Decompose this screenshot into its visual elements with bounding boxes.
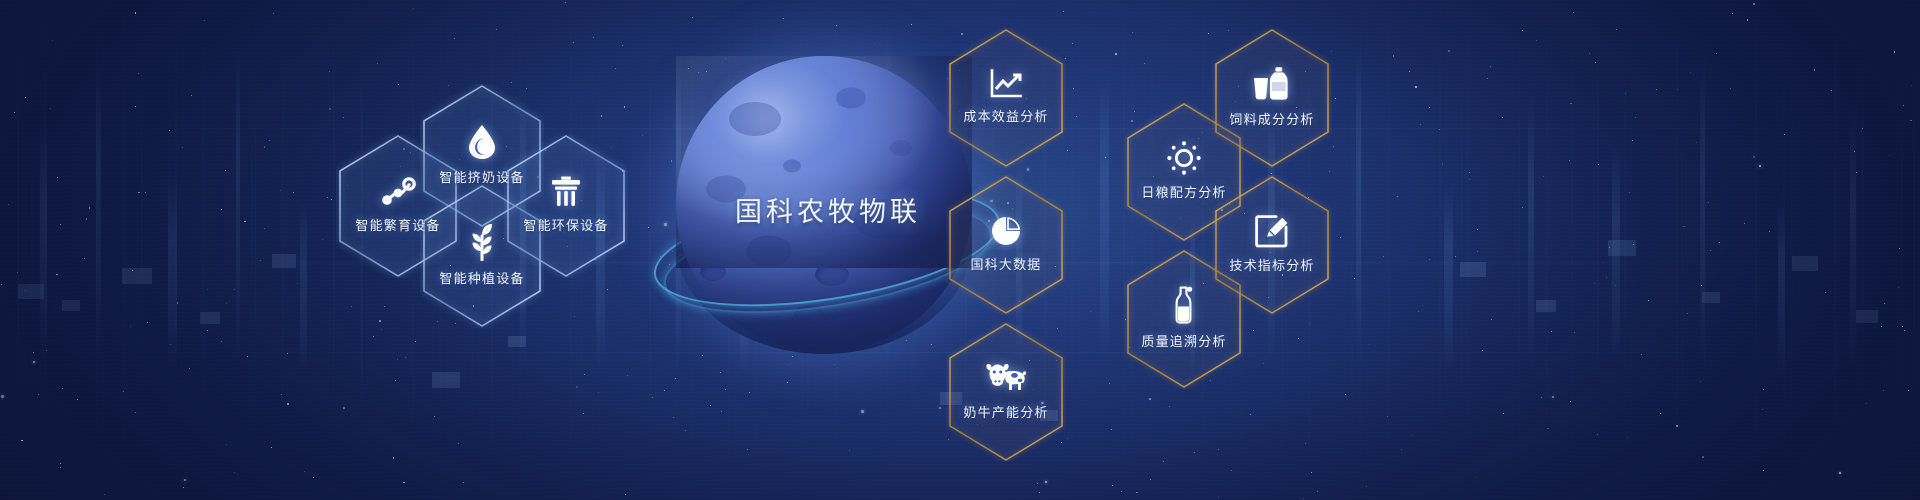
hex-label: 奶牛产能分析 <box>963 402 1048 421</box>
smart-equipment-cluster: 智能挤奶设备 智能繁育设备 <box>336 84 666 304</box>
milk-bottle-icon <box>1171 286 1197 324</box>
sun-icon <box>1167 141 1201 175</box>
hex-label: 智能环保设备 <box>523 215 608 234</box>
cow-icon <box>985 361 1027 395</box>
plant-sprout-icon <box>465 223 499 261</box>
planet-front-mask <box>676 56 972 271</box>
hex-cost-benefit[interactable]: 成本效益分析 <box>946 28 1066 168</box>
line-chart-icon <box>990 69 1022 99</box>
hex-label: 国科大数据 <box>970 254 1041 273</box>
hex-label: 饲料成分分析 <box>1229 109 1314 128</box>
hex-tech-indicator[interactable]: 技术指标分析 <box>1212 175 1332 315</box>
network-node-icon <box>380 176 416 208</box>
page-title: 国科农牧物联 <box>648 190 1008 229</box>
water-drop-icon <box>467 124 497 160</box>
hex-label: 质量追溯分析 <box>1141 331 1226 350</box>
hex-eco[interactable]: 智能环保设备 <box>504 134 628 278</box>
analytics-cluster-right-columns: 日粮配方分析 质量追溯分析 <box>1124 18 1424 383</box>
hex-cow-capacity[interactable]: 奶牛产能分析 <box>946 322 1066 462</box>
hex-feed-composition[interactable]: 饲料成分分析 <box>1212 28 1332 168</box>
trash-bin-icon <box>550 176 582 208</box>
hero-banner: 国科农牧物联 <box>0 0 1920 500</box>
hex-label: 技术指标分析 <box>1229 255 1314 274</box>
hex-label: 成本效益分析 <box>963 106 1048 125</box>
pencil-edit-icon <box>1255 214 1289 248</box>
milk-bottle-cup-icon <box>1252 66 1292 102</box>
